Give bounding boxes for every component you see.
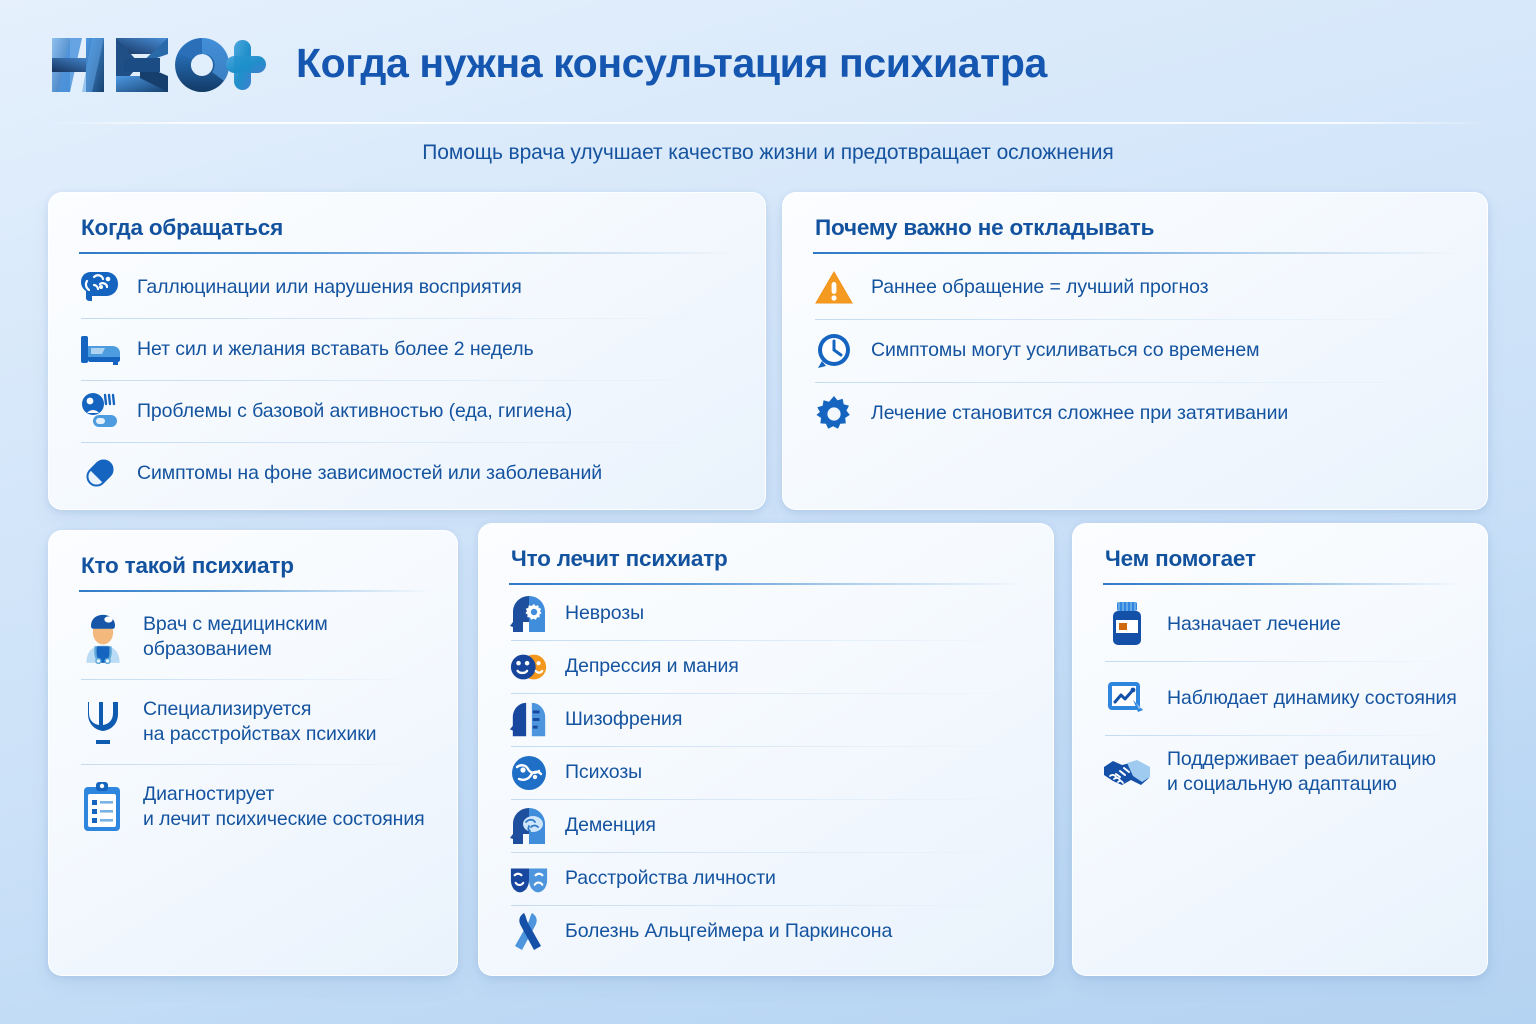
card-item-list: Галлюцинации или нарушения восприятия Не… [79,256,739,504]
list-item[interactable]: Специализируется на расстройствах психик… [79,679,431,764]
card-title-divider [79,252,739,254]
card-why-not-delay: Почему важно не откладывать Раннее обращ… [782,192,1488,510]
list-item-label: Психозы [565,760,642,785]
list-item[interactable]: Поддерживает реабилитацию и социальную а… [1103,735,1461,809]
warning-triangle-icon [813,267,855,309]
card-title-divider [1103,583,1461,585]
list-item-label: Нет сил и желания вставать более 2 недел… [137,337,534,362]
header-divider [44,122,1492,124]
neo-plus-logo [48,32,270,98]
list-item-label: Наблюдает динамику состояния [1167,686,1457,711]
card-title-divider [79,590,431,592]
list-item-label: Болезнь Альцгеймера и Паркинсона [565,919,892,944]
list-item[interactable]: Назначает лечение [1103,587,1461,661]
card-title-divider [509,583,1027,585]
list-item[interactable]: Расстройства личности [509,852,1027,905]
list-item-label: Расстройства личности [565,866,776,891]
card-what-psychiatrist-treats: Что лечит психиатр Неврозы Депрессия и м… [478,523,1054,976]
theater-masks-icon [509,859,549,899]
page-header: Когда нужна консультация психиатра Помощ… [0,0,1536,168]
doctor-avatar-icon [79,611,127,663]
psi-symbol-icon [79,696,127,748]
list-item-label: Симптомы могут усиливаться со временем [871,338,1259,363]
list-item-label: Шизофрения [565,707,682,732]
list-item[interactable]: Наблюдает динамику состояния [1103,661,1461,735]
page-title: Когда нужна консультация психиатра [296,43,1047,87]
list-item-label: Деменция [565,813,656,838]
list-item-label: Симптомы на фоне зависимостей или заболе… [137,461,602,486]
card-item-list: Врач с медицинским образованием Специали… [79,594,431,849]
list-item-label: Поддерживает реабилитацию и социальную а… [1167,747,1436,797]
list-item[interactable]: Диагностирует и лечит психические состоя… [79,764,431,849]
self-care-icon [79,390,121,432]
gear-icon [813,393,855,435]
logo-svg [48,34,270,96]
list-item-label: Лечение становится сложнее при затятиван… [871,401,1288,426]
psychosis-head-icon [509,753,549,793]
list-item-label: Специализируется на расстройствах психик… [143,697,376,747]
list-item[interactable]: Болезнь Альцгеймера и Паркинсона [509,905,1027,958]
card-title: Кто такой психиатр [79,553,431,579]
bed-icon [79,328,121,370]
split-head-icon [509,700,549,740]
clipboard-icon [79,781,127,833]
card-title-divider [813,252,1461,254]
pill-bottle-icon [1103,601,1151,647]
ribbon-icon [509,912,549,952]
list-item[interactable]: Психозы [509,746,1027,799]
list-item[interactable]: Галлюцинации или нарушения восприятия [79,256,739,318]
card-item-list: Раннее обращение = лучший прогноз Симпто… [813,256,1461,445]
brain-head-icon [509,806,549,846]
handshake-icon [1103,749,1151,795]
card-title: Почему важно не откладывать [813,215,1461,241]
head-gear-icon [509,594,549,634]
list-item-label: Диагностирует и лечит психические состоя… [143,782,425,832]
card-title: Когда обращаться [79,215,739,241]
list-item[interactable]: Симптомы могут усиливаться со временем [813,319,1461,382]
clock-icon [813,330,855,372]
card-how-helps: Чем помогает Назначает лечение Наблюдает… [1072,523,1488,976]
list-item[interactable]: Лечение становится сложнее при затятиван… [813,382,1461,445]
card-title: Чем помогает [1103,546,1461,572]
card-title: Что лечит психиатр [509,546,1027,572]
list-item[interactable]: Деменция [509,799,1027,852]
card-when-to-seek-help: Когда обращаться Галлюцинации или наруше… [48,192,766,510]
list-item-label: Депрессия и мания [565,654,739,679]
list-item-label: Проблемы с базовой активностью (еда, гиг… [137,399,572,424]
list-item-label: Раннее обращение = лучший прогноз [871,275,1208,300]
chart-tablet-icon [1103,675,1151,721]
card-item-list: Неврозы Депрессия и мания Шизофрения Пси… [509,587,1027,958]
list-item-label: Неврозы [565,601,644,626]
list-item-label: Врач с медицинским образованием [143,612,328,662]
two-faces-icon [509,647,549,687]
list-item[interactable]: Врач с медицинским образованием [79,594,431,679]
capsule-icon [79,452,121,494]
list-item[interactable]: Раннее обращение = лучший прогноз [813,256,1461,319]
list-item[interactable]: Депрессия и мания [509,640,1027,693]
card-who-is-psychiatrist: Кто такой психиатр Врач с медицинским об… [48,530,458,976]
card-item-list: Назначает лечение Наблюдает динамику сос… [1103,587,1461,809]
list-item[interactable]: Неврозы [509,587,1027,640]
header-row: Когда нужна консультация психиатра [0,22,1536,108]
list-item[interactable]: Проблемы с базовой активностью (еда, гиг… [79,380,739,442]
list-item-label: Назначает лечение [1167,612,1341,637]
page-subtitle: Помощь врача улучшает качество жизни и п… [0,141,1536,165]
list-item[interactable]: Нет сил и желания вставать более 2 недел… [79,318,739,380]
brain-icon [79,266,121,308]
list-item-label: Галлюцинации или нарушения восприятия [137,275,522,300]
list-item[interactable]: Симптомы на фоне зависимостей или заболе… [79,442,739,504]
list-item[interactable]: Шизофрения [509,693,1027,746]
